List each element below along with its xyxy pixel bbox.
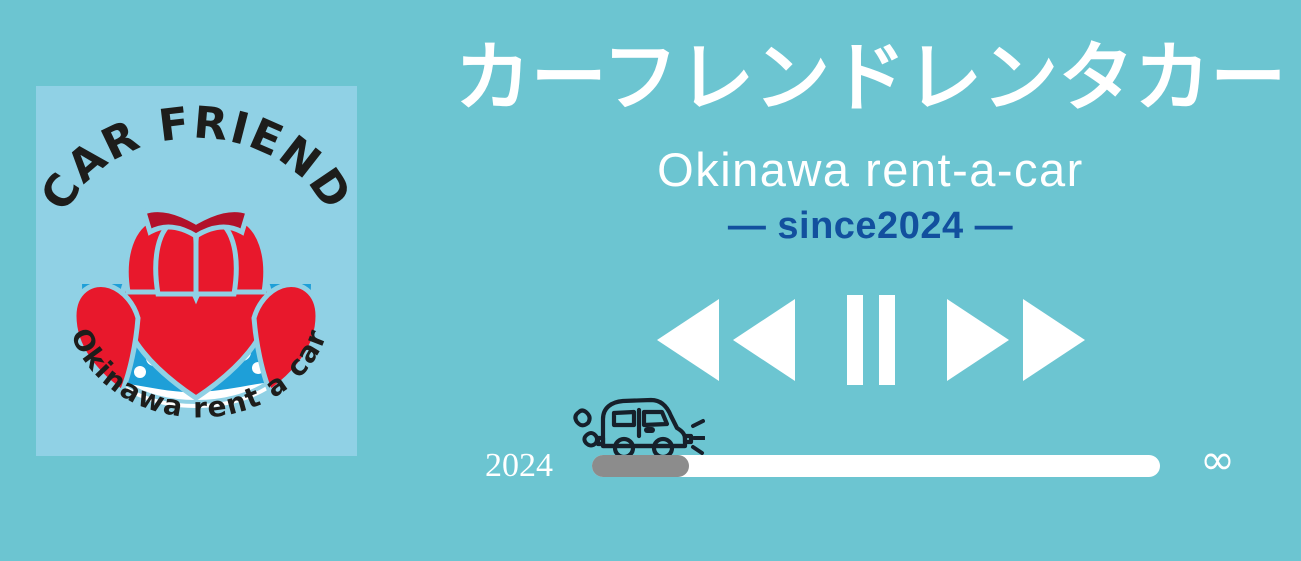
triangle-left-icon	[657, 299, 719, 381]
car-friend-logo: CAR FRIEND Okinawa rent a car	[36, 86, 357, 456]
since-line: — since2024 —	[440, 206, 1301, 248]
car-icon	[565, 390, 705, 462]
logo-bud	[126, 210, 265, 294]
fast-forward-button[interactable]	[928, 299, 1104, 381]
logo-panel: CAR FRIEND Okinawa rent a car	[36, 86, 357, 456]
page-subtitle-en: Okinawa rent-a-car	[440, 145, 1301, 194]
pause-bar-icon	[879, 295, 895, 385]
page-title-jp: カーフレンドレンタカー	[440, 40, 1301, 116]
media-controls	[440, 296, 1301, 384]
timeline-track[interactable]	[592, 455, 1160, 477]
hero-banner: CAR FRIEND Okinawa rent a car カーフレンドレンタカ…	[0, 0, 1301, 561]
triangle-left-icon	[733, 299, 795, 381]
timeline[interactable]: 2024	[440, 425, 1301, 505]
triangle-right-icon	[947, 299, 1009, 381]
triangle-right-icon	[1023, 299, 1085, 381]
rewind-button[interactable]	[638, 299, 814, 381]
hero-content: カーフレンドレンタカー Okinawa rent-a-car — since20…	[440, 0, 1301, 561]
pause-bar-icon	[847, 295, 863, 385]
exhaust-puff-icon	[575, 411, 597, 446]
pause-button[interactable]	[838, 295, 904, 385]
speed-lines-icon	[693, 421, 704, 453]
timeline-progress-fill	[592, 455, 689, 477]
timeline-end-label: ∞	[1200, 439, 1235, 481]
timeline-start-label: 2024	[485, 449, 553, 483]
logo-arc-top-text: CAR FRIEND	[36, 97, 357, 219]
